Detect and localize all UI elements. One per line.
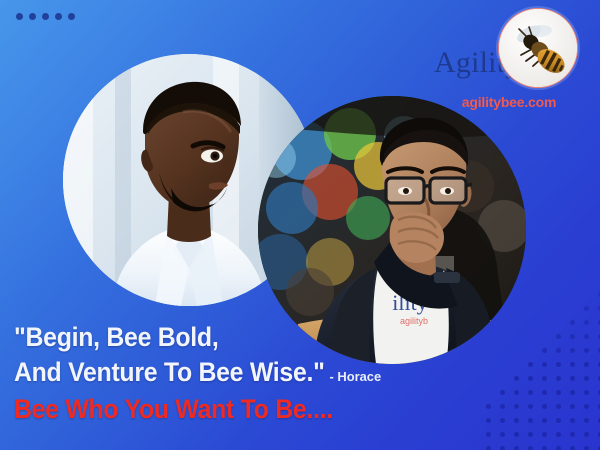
corner-dot-grid-decoration [480,290,600,450]
decor-dot [500,404,505,409]
decor-dot [528,390,533,395]
quote-line-2-row: And Venture To Bee Wise." - Horace [14,355,400,390]
decor-dot [542,376,547,381]
decor-dot [570,404,575,409]
decor-dot [584,404,589,409]
decor-dot [16,13,23,20]
decor-dot [584,432,589,437]
decor-dot [556,404,561,409]
decor-dot [570,432,575,437]
decor-dot [556,418,561,423]
decor-dot [514,376,519,381]
decor-dot [514,446,519,450]
bee-icon [498,8,578,88]
decor-dot [500,418,505,423]
quote-tagline: Bee Who You Want To Be.... [14,392,400,428]
decor-dot [542,348,547,353]
decor-dot [584,334,589,339]
decor-dot [570,334,575,339]
decor-dot [486,432,491,437]
decor-dot [570,418,575,423]
decor-dot [514,404,519,409]
decor-dot [542,362,547,367]
decor-dot [542,432,547,437]
brand-logo[interactable]: Agility [434,6,586,122]
decor-dot [556,334,561,339]
decor-dot [570,320,575,325]
decor-dot [556,376,561,381]
decor-dot [528,446,533,450]
decor-dot [528,376,533,381]
decor-dot [570,376,575,381]
decor-dot [584,418,589,423]
quote-line-1: "Begin, Bee Bold, [14,320,400,355]
poster-canvas: ility agilityb [0,0,600,450]
decor-dot [584,376,589,381]
decor-dot [514,390,519,395]
decor-dot [528,432,533,437]
decor-dot [556,348,561,353]
decor-dot [584,348,589,353]
decor-dot [584,306,589,311]
decor-dot [584,320,589,325]
decor-dot [528,418,533,423]
top-left-dots-decoration [16,13,75,20]
decor-dot [570,390,575,395]
decor-dot [514,418,519,423]
decor-dot [584,446,589,450]
brand-website[interactable]: agilitybee.com [434,94,584,110]
decor-dot [42,13,49,20]
decor-dot [500,390,505,395]
decor-dot [570,348,575,353]
decor-dot [528,362,533,367]
decor-dot [542,418,547,423]
quote-line-2: And Venture To Bee Wise." [14,355,325,390]
decor-dot [584,390,589,395]
decor-dot [55,13,62,20]
quote-attribution: - Horace [329,369,381,386]
decor-dot [556,446,561,450]
quote-block: "Begin, Bee Bold, And Venture To Bee Wis… [14,320,434,428]
decor-dot [584,362,589,367]
decor-dot [486,446,491,450]
decor-dot [556,432,561,437]
decor-dot [570,362,575,367]
decor-dot [500,432,505,437]
decor-dot [542,390,547,395]
decor-dot [29,13,36,20]
decor-dot [514,432,519,437]
decor-dot [556,390,561,395]
decor-dot [68,13,75,20]
decor-dot [528,404,533,409]
decor-dot [556,362,561,367]
decor-dot [542,446,547,450]
decor-dot [500,446,505,450]
decor-dot [542,404,547,409]
decor-dot [486,404,491,409]
decor-dot [486,418,491,423]
decor-dot [570,446,575,450]
